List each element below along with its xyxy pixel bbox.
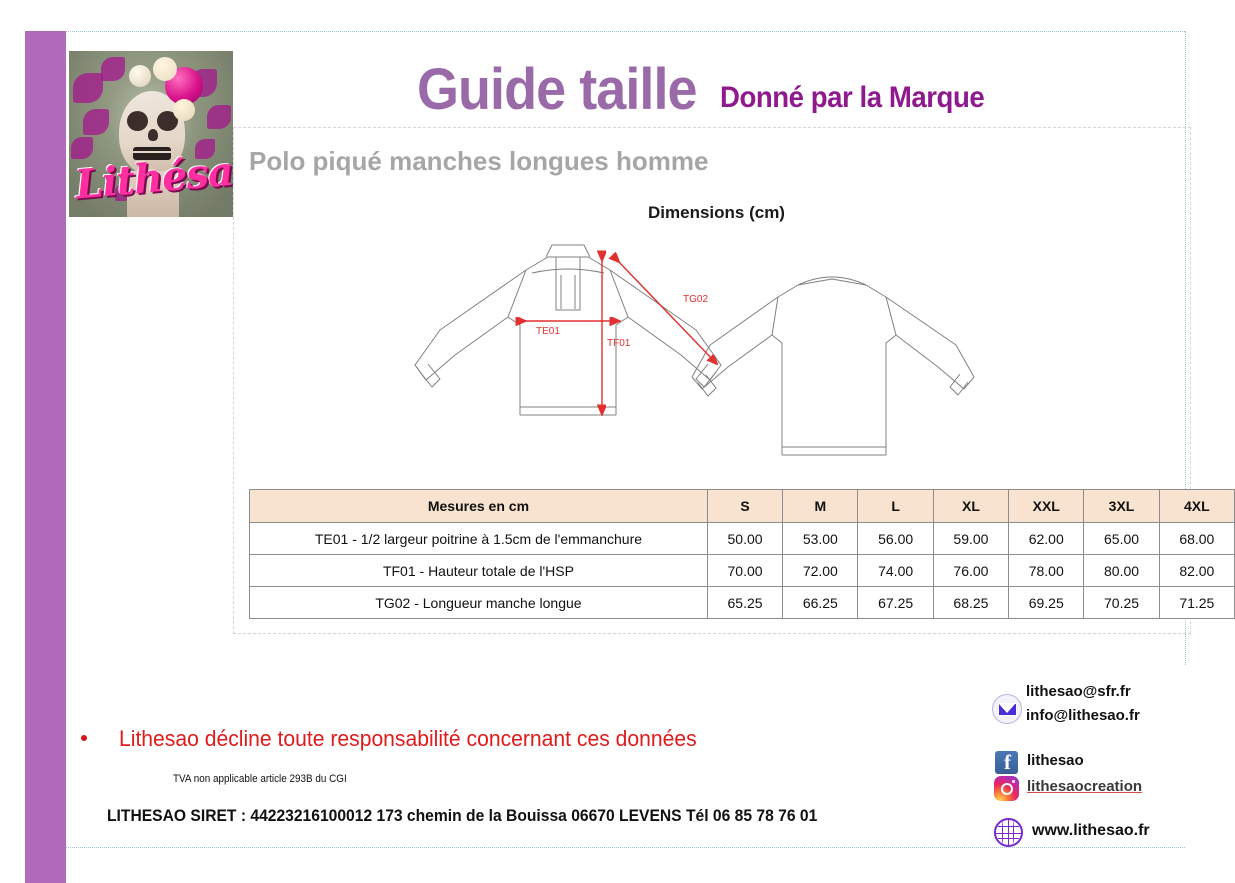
cell-value: 62.00 xyxy=(1009,523,1084,555)
cell-value: 71.25 xyxy=(1159,587,1234,619)
cell-value: 76.00 xyxy=(933,555,1008,587)
dimensions-label: Dimensions (cm) xyxy=(648,203,785,223)
cell-value: 72.00 xyxy=(783,555,858,587)
table-header-measures: Mesures en cm xyxy=(250,490,708,523)
cell-value: 74.00 xyxy=(858,555,933,587)
table-header-m: M xyxy=(783,490,858,523)
email-icon xyxy=(992,694,1022,724)
cell-value: 65.00 xyxy=(1084,523,1159,555)
logo-ornament xyxy=(207,105,231,129)
garment-diagram-svg: TE01 TF01 TG02 xyxy=(380,235,1040,485)
email-2[interactable]: info@lithesao.fr xyxy=(1026,707,1140,724)
cell-value: 69.25 xyxy=(1009,587,1084,619)
row-label: TE01 - 1/2 largeur poitrine à 1.5cm de l… xyxy=(250,523,708,555)
product-title: Polo piqué manches longues homme xyxy=(249,146,708,177)
instagram-handle[interactable]: lithesaocreation xyxy=(1027,778,1142,795)
measure-label-te01: TE01 xyxy=(536,326,560,337)
table-row: TE01 - 1/2 largeur poitrine à 1.5cm de l… xyxy=(250,523,1235,555)
cell-value: 66.25 xyxy=(783,587,858,619)
page-title: Guide taille xyxy=(417,61,697,119)
page-frame-bottom xyxy=(66,847,1185,848)
table-header-xxl: XXL xyxy=(1009,490,1084,523)
cell-value: 70.00 xyxy=(707,555,782,587)
table-header-3xl: 3XL xyxy=(1084,490,1159,523)
cell-value: 65.25 xyxy=(707,587,782,619)
back-view xyxy=(692,277,974,455)
table-header-l: L xyxy=(858,490,933,523)
logo-flower xyxy=(173,99,195,121)
logo-ornament xyxy=(73,73,103,103)
bullet-marker xyxy=(81,735,87,741)
row-label: TF01 - Hauteur totale de l'HSP xyxy=(250,555,708,587)
table-header-4xl: 4XL xyxy=(1159,490,1234,523)
instagram-icon[interactable] xyxy=(994,776,1019,801)
cell-value: 70.25 xyxy=(1084,587,1159,619)
logo-skull-eye xyxy=(127,111,148,131)
measure-label-tg02: TG02 xyxy=(683,294,708,305)
garment-diagram: TE01 TF01 TG02 xyxy=(380,235,1040,485)
logo-skull-nose xyxy=(148,129,158,141)
cell-value: 56.00 xyxy=(858,523,933,555)
logo-image: Lithésao xyxy=(69,51,233,217)
email-1[interactable]: lithesao@sfr.fr xyxy=(1026,683,1131,700)
tva-notice: TVA non applicable article 293B du CGI xyxy=(173,773,347,785)
brand-logo: Lithésao xyxy=(69,51,233,217)
size-table: Mesures en cm S M L XL XXL 3XL 4XL TE01 … xyxy=(249,489,1235,619)
cell-value: 50.00 xyxy=(707,523,782,555)
table-row: TG02 - Longueur manche longue 65.25 66.2… xyxy=(250,587,1235,619)
page-frame-top xyxy=(66,31,1185,32)
logo-ornament xyxy=(101,57,125,81)
facebook-icon[interactable] xyxy=(994,750,1019,775)
front-view xyxy=(415,245,721,415)
cell-value: 59.00 xyxy=(933,523,1008,555)
cell-value: 68.25 xyxy=(933,587,1008,619)
table-header-row: Mesures en cm S M L XL XXL 3XL 4XL xyxy=(250,490,1235,523)
disclaimer-text: Lithesao décline toute responsabilité co… xyxy=(119,726,697,752)
website-url[interactable]: www.lithesao.fr xyxy=(1032,822,1150,840)
cell-value: 67.25 xyxy=(858,587,933,619)
logo-ornament xyxy=(83,109,109,135)
measure-label-tf01: TF01 xyxy=(607,338,631,349)
globe-icon[interactable] xyxy=(994,818,1023,847)
purple-sidebar-bar xyxy=(25,31,66,883)
cell-value: 53.00 xyxy=(783,523,858,555)
page-subtitle: Donné par la Marque xyxy=(720,83,984,113)
table-header-s: S xyxy=(707,490,782,523)
facebook-handle[interactable]: lithesao xyxy=(1027,752,1084,769)
logo-flower xyxy=(129,65,151,87)
table-header-xl: XL xyxy=(933,490,1008,523)
row-label: TG02 - Longueur manche longue xyxy=(250,587,708,619)
cell-value: 82.00 xyxy=(1159,555,1234,587)
logo-flower xyxy=(153,57,177,81)
table-row: TF01 - Hauteur totale de l'HSP 70.00 72.… xyxy=(250,555,1235,587)
logo-ornament xyxy=(71,137,93,159)
cell-value: 78.00 xyxy=(1009,555,1084,587)
cell-value: 80.00 xyxy=(1084,555,1159,587)
siret-line: LITHESAO SIRET : 44223216100012 173 chem… xyxy=(107,806,817,826)
cell-value: 68.00 xyxy=(1159,523,1234,555)
size-guide-page: Lithésao Guide taille Donné par la Marqu… xyxy=(0,0,1235,883)
